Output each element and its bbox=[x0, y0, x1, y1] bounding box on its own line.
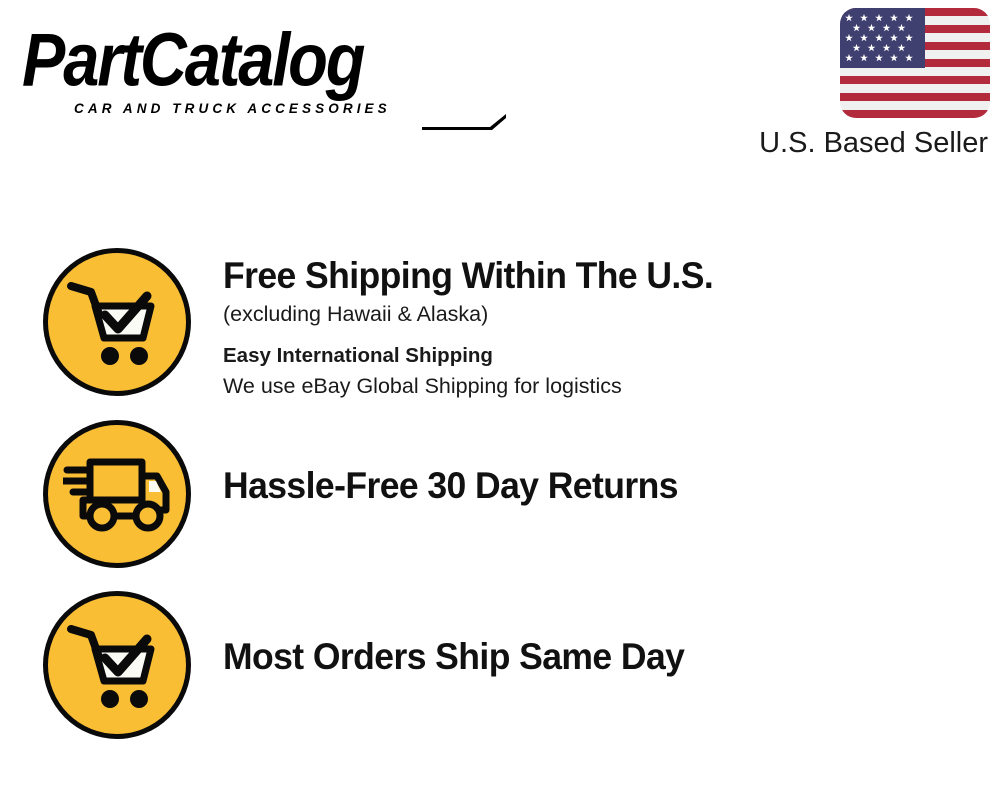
feature-subheading: Easy International Shipping bbox=[223, 342, 1000, 370]
flag-canton bbox=[840, 8, 925, 67]
feature-subdetail: We use eBay Global Shipping for logistic… bbox=[223, 371, 1000, 402]
seller-badge-label: U.S. Based Seller bbox=[690, 127, 990, 160]
logo-swoosh-icon bbox=[420, 112, 506, 130]
page-header: PartCatalog CAR AND TRUCK ACCESSORIES bbox=[0, 0, 1000, 165]
us-flag-icon bbox=[840, 8, 990, 118]
delivery-truck-icon bbox=[43, 420, 191, 568]
feature-text-block: Hassle-Free 30 Day Returns bbox=[223, 420, 1000, 508]
shopping-cart-check-icon bbox=[43, 248, 191, 396]
feature-heading: Hassle-Free 30 Day Returns bbox=[223, 464, 969, 508]
feature-text-block: Most Orders Ship Same Day bbox=[223, 591, 1000, 679]
feature-heading: Most Orders Ship Same Day bbox=[223, 635, 969, 679]
feature-row: Most Orders Ship Same Day bbox=[0, 591, 1000, 739]
feature-text-block: Free Shipping Within The U.S. (excluding… bbox=[223, 248, 1000, 402]
feature-row: Hassle-Free 30 Day Returns bbox=[0, 420, 1000, 568]
us-based-seller-badge: U.S. Based Seller bbox=[690, 8, 990, 160]
brand-logo[interactable]: PartCatalog CAR AND TRUCK ACCESSORIES bbox=[22, 26, 492, 116]
feature-row: Free Shipping Within The U.S. (excluding… bbox=[0, 248, 1000, 402]
brand-wordmark: PartCatalog bbox=[22, 26, 478, 95]
feature-subnote: (excluding Hawaii & Alaska) bbox=[223, 299, 1000, 330]
shopping-cart-check-icon bbox=[43, 591, 191, 739]
feature-heading: Free Shipping Within The U.S. bbox=[223, 254, 969, 298]
